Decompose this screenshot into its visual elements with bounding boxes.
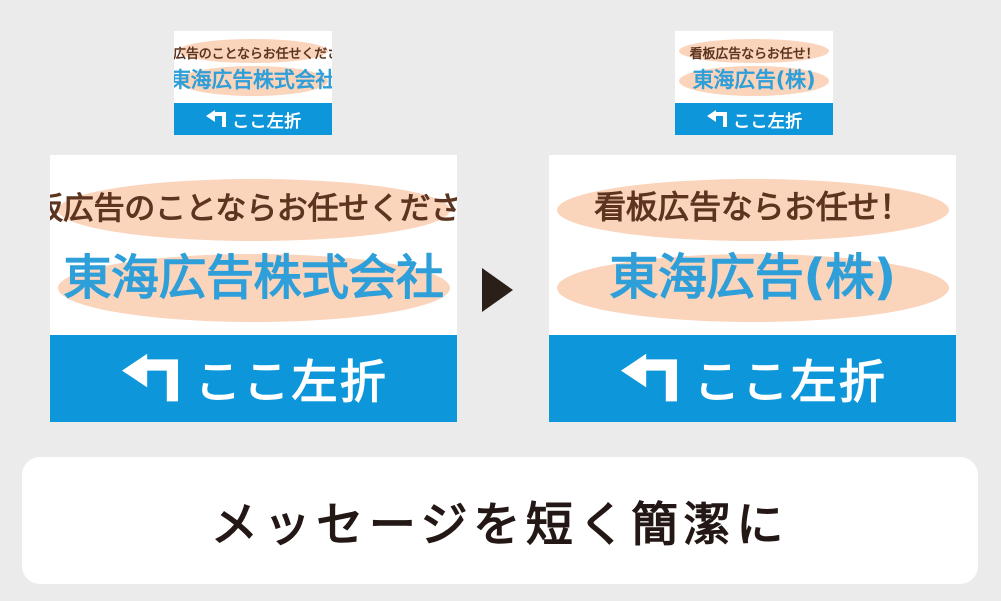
sign-large-before-direction-band: ここ左折 xyxy=(50,335,457,422)
sign-large-before-direction-text: ここ左折 xyxy=(195,346,388,412)
sign-large-after-direction-band: ここ左折 xyxy=(549,335,956,422)
sign-large-before-white-area: 看板広告のことならお任せください! 東海広告株式会社 xyxy=(50,155,457,335)
caption-card: メッセージを短く簡潔に xyxy=(22,457,978,584)
sign-large-after-white-area: 看板広告ならお任せ！ 東海広告(株) xyxy=(549,155,956,335)
turn-left-arrow-icon xyxy=(706,109,728,129)
sign-large-before-tagline: 看板広告のことならお任せください! xyxy=(50,183,457,228)
sign-small-before-company: 東海広告株式会社 xyxy=(174,64,332,94)
sign-small-before: 看板広告のことならお任せください! 東海広告株式会社 ここ左折 xyxy=(174,31,332,135)
sign-small-after-company: 東海広告(株) xyxy=(693,64,816,94)
sign-small-before-tagline: 看板広告のことならお任せください! xyxy=(174,43,332,62)
sign-large-after-company: 東海広告(株) xyxy=(609,238,895,309)
sign-small-before-direction-band: ここ左折 xyxy=(174,103,332,135)
sign-small-after-tagline: 看板広告ならお任せ！ xyxy=(690,43,819,62)
sign-large-after: 看板広告ならお任せ！ 東海広告(株) ここ左折 xyxy=(549,155,956,422)
sign-small-after-direction-text: ここ左折 xyxy=(733,107,802,132)
sign-large-before-company: 東海広告株式会社 xyxy=(63,238,443,308)
turn-left-arrow-icon xyxy=(205,109,227,129)
right-triangle-arrow-icon xyxy=(482,268,513,312)
sign-small-before-white-area: 看板広告のことならお任せください! 東海広告株式会社 xyxy=(174,31,332,103)
sign-large-after-tagline: 看板広告ならお任せ！ xyxy=(594,182,911,228)
sign-small-after: 看板広告ならお任せ！ 東海広告(株) ここ左折 xyxy=(675,31,833,135)
illustration-stage: 看板広告のことならお任せください! 東海広告株式会社 ここ左折 看板広告ならお任… xyxy=(0,0,1001,601)
turn-left-arrow-icon xyxy=(618,351,680,407)
caption-text: メッセージを短く簡潔に xyxy=(211,486,789,555)
sign-large-before: 看板広告のことならお任せください! 東海広告株式会社 ここ左折 xyxy=(50,155,457,422)
sign-large-after-direction-text: ここ左折 xyxy=(694,346,887,412)
sign-small-after-white-area: 看板広告ならお任せ！ 東海広告(株) xyxy=(675,31,833,103)
sign-small-after-direction-band: ここ左折 xyxy=(675,103,833,135)
sign-small-before-direction-text: ここ左折 xyxy=(232,107,301,132)
turn-left-arrow-icon xyxy=(119,351,181,407)
